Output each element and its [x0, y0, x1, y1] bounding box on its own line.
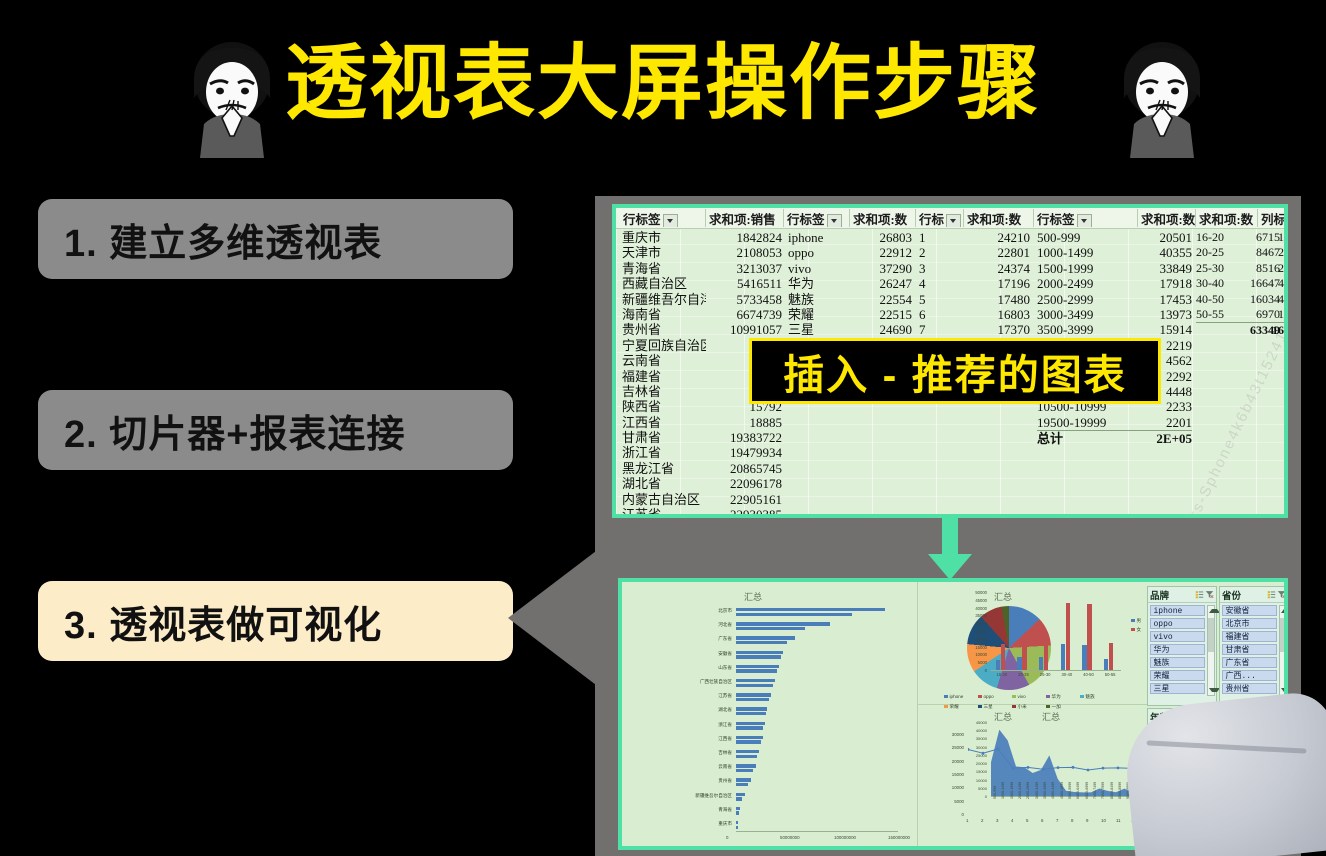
- bar-category-label: 新疆维吾尔自治区: [624, 793, 732, 798]
- pivot-cell-province-value: 5733458: [702, 292, 782, 307]
- slicer-scrollbar[interactable]: [1279, 605, 1287, 696]
- filter-dropdown-icon[interactable]: [663, 214, 678, 227]
- chart-province-bar: 汇总 北京市河北省广东省安徽省山东省广西壮族自治区江苏省湖北省浙江省江西省吉林省…: [624, 590, 916, 848]
- callout-insert-recommended-charts: 插入 - 推荐的图表: [749, 338, 1161, 404]
- slicer-body: iphoneoppovivo华为魅族荣耀三星: [1148, 603, 1216, 697]
- gender-table-row: 16-2067151639723112: [1196, 230, 1288, 245]
- step-label-3: 3. 透视表做可视化: [64, 594, 382, 649]
- pivot-cell-province-label: 湖北省: [622, 476, 706, 491]
- line-y-tick: 25000: [942, 745, 964, 750]
- pivot-cell-province-value: 6674739: [702, 307, 782, 322]
- pie-legend-item: 华为: [1046, 694, 1061, 700]
- bar-category-label: 广东省: [624, 636, 732, 641]
- pivot-cell-price-value: 2E+05: [1116, 430, 1192, 446]
- bar-category-label: 贵州省: [624, 778, 732, 783]
- slicer-item[interactable]: 魅族: [1150, 657, 1206, 669]
- bar-category-label: 云南省: [624, 764, 732, 769]
- pie-legend-item: 一加: [1046, 704, 1061, 710]
- pivot-cell-province-label: 江苏省: [622, 507, 706, 518]
- column-bar: [1104, 659, 1108, 670]
- pivot-cell-province-label: 浙江省: [622, 445, 706, 460]
- bar-x-tick: 50000000: [780, 835, 800, 840]
- area-x-tick: 3000-3499: [1035, 782, 1039, 799]
- pivot-cell-province-label: 内蒙古自治区: [622, 492, 706, 507]
- pie-legend-label: 华为: [1052, 694, 1061, 699]
- pivot-cell-index-value: 17196: [946, 276, 1030, 291]
- pivot-cell-province-value: 18885: [702, 415, 782, 430]
- pivot-cell-brand-value: 26247: [846, 276, 912, 291]
- gender-row-label: 16-20: [1196, 230, 1236, 245]
- pivot-cell-index-value: 17370: [946, 322, 1030, 337]
- scroll-thumb[interactable]: [1280, 618, 1286, 652]
- pivot-cell-province-label: 陕西省: [622, 399, 706, 414]
- dash-divider-v: [917, 582, 918, 850]
- pivot-cell-price-value: 20501: [1116, 230, 1192, 245]
- slicer-title: 省份: [1222, 588, 1266, 602]
- pivot-cell-brand-label: 魅族: [788, 292, 850, 307]
- column-legend-item: 男: [1131, 618, 1141, 624]
- bar-category-label: 江西省: [624, 736, 732, 741]
- line-y-tick: 0: [942, 812, 964, 817]
- pivot-cell-province-label: 福建省: [622, 369, 706, 384]
- sheet-header-row: 行标签 求和项:销售 行标签 求和项:数 行标 求和项:数 行标签 求和项:数 …: [616, 208, 1284, 229]
- area-y-tick: 45000: [967, 720, 987, 725]
- step-button-1[interactable]: 1. 建立多维透视表: [38, 199, 513, 279]
- pivot-cell-brand-label: 华为: [788, 276, 850, 291]
- bar-category-label: 湖北省: [624, 707, 732, 712]
- pivot-cell-index-label: 7: [919, 322, 949, 337]
- pie-legend-swatch: [1012, 705, 1016, 709]
- pivot-cell-province-label: 重庆市: [622, 230, 706, 245]
- column-x-tick: 25-30: [1034, 672, 1056, 677]
- chart-title-bar: 汇总: [744, 590, 762, 603]
- down-arrow-icon: [925, 518, 975, 580]
- step-label-1: 1. 建立多维透视表: [64, 212, 382, 267]
- slicer-item[interactable]: 广东省: [1222, 657, 1278, 669]
- area-y-tick: 30000: [967, 745, 987, 750]
- bar-category-label: 广西壮族自治区: [624, 679, 732, 684]
- area-y-tick: 35000: [967, 736, 987, 741]
- pivot-cell-province-label: 海南省: [622, 307, 706, 322]
- pivot-cell-province-value: 1842824: [702, 230, 782, 245]
- gender-female-value: 21810: [1272, 261, 1288, 276]
- area-x-tick: 1000-1499: [1001, 782, 1005, 799]
- column-bar: [1039, 657, 1043, 670]
- column-x-tick: 30-40: [1056, 672, 1078, 677]
- scroll-up-icon[interactable]: [1209, 609, 1220, 613]
- pivot-cell-index-label: 4: [919, 276, 949, 291]
- slicer-body: 安徽省北京市福建省甘肃省广东省广西...贵州省: [1220, 603, 1288, 697]
- pivot-cell-brand-label: vivo: [788, 261, 850, 276]
- col-header-sum-count-1[interactable]: 求和项:数: [850, 209, 916, 227]
- slicer-brand[interactable]: 品牌iphoneoppovivo华为魅族荣耀三星: [1147, 586, 1217, 706]
- column-legend-swatch: [1131, 619, 1135, 623]
- pie-legend-swatch: [944, 695, 948, 699]
- pivot-cell-price-value: 33849: [1116, 261, 1192, 276]
- pie-legend-item: oppo: [978, 694, 994, 699]
- pivot-cell-brand-value: 22912: [846, 245, 912, 260]
- meme-face-sticker-right: [1106, 40, 1218, 158]
- column-legend-label: 男: [1137, 618, 1142, 623]
- gender-female-value: 42486: [1272, 292, 1288, 307]
- scroll-down-icon[interactable]: [1209, 688, 1220, 692]
- col-header-row-labels-1[interactable]: 行标签: [620, 209, 706, 227]
- slicer-item[interactable]: vivo: [1150, 631, 1206, 643]
- gender-female-value: 16397: [1272, 230, 1288, 245]
- filter-dropdown-icon[interactable]: [946, 214, 961, 227]
- slicer-header: 省份: [1220, 587, 1288, 603]
- pie-legend-swatch: [944, 705, 948, 709]
- pivot-cell-brand-value: 22515: [846, 307, 912, 322]
- col-header-sum-sales[interactable]: 求和项:销售: [706, 209, 784, 227]
- column-y-tick: 30000: [967, 621, 987, 626]
- gender-table-row: 25-3085162181030326: [1196, 261, 1288, 276]
- column-bar: [1087, 604, 1091, 670]
- gender-row-label: 30-40: [1196, 276, 1236, 291]
- filter-dropdown-icon[interactable]: [827, 214, 842, 227]
- pivot-cell-province-label: 新疆维吾尔自洋: [622, 292, 706, 307]
- column-y-tick: 35000: [967, 613, 987, 618]
- pivot-cell-brand-label: 荣耀: [788, 307, 850, 322]
- column-bar: [1109, 643, 1113, 670]
- gender-row-label: 25-30: [1196, 261, 1236, 276]
- pivot-cell-province-label: 西藏自治区: [622, 276, 706, 291]
- pivot-cell-province-value: 19479934: [702, 445, 782, 460]
- area-x-tick: 4500-4999: [1060, 782, 1064, 799]
- area-x-tick: 6500-6999: [1085, 782, 1089, 799]
- pivot-cell-index-label: 2: [919, 245, 949, 260]
- col-header-row-labels-2[interactable]: 行标签: [784, 209, 850, 227]
- pivot-cell-province-label: 云南省: [622, 353, 706, 368]
- gender-female-value: 17247: [1272, 307, 1288, 322]
- area-y-tick: 10000: [967, 778, 987, 783]
- gender-table-row: 20-2584672164130108: [1196, 245, 1288, 260]
- callout-text: 插入 - 推荐的图表: [783, 341, 1126, 401]
- clear-filter-icon[interactable]: [1205, 590, 1214, 599]
- area-x-tick: 7500-7999: [1101, 782, 1105, 799]
- area-x-tick: 2000-2499: [1018, 782, 1022, 799]
- bar-category-label: 江苏省: [624, 693, 732, 698]
- pointer-arrow-to-step3: [508, 548, 600, 688]
- pivot-cell-brand-value: 22554: [846, 292, 912, 307]
- pie-legend-item: 魅族: [1080, 694, 1095, 700]
- step-button-2[interactable]: 2. 切片器+报表连接: [38, 390, 513, 470]
- pivot-cell-index-label: 3: [919, 261, 949, 276]
- pivot-cell-province-label: 青海省: [622, 261, 706, 276]
- pivot-cell-province-value: 22930385: [702, 507, 782, 518]
- slicer-item[interactable]: 华为: [1150, 644, 1206, 656]
- column-y-tick: 20000: [967, 637, 987, 642]
- pie-legend-item: 三星: [978, 704, 993, 710]
- gender-row-label: 40-50: [1196, 292, 1236, 307]
- column-bar: [1044, 636, 1048, 670]
- gender-row-label: 50-55: [1196, 307, 1236, 322]
- area-y-tick: 20000: [967, 761, 987, 766]
- column-bar: [1061, 644, 1065, 670]
- column-x-tick: 16-20: [991, 672, 1013, 677]
- column-y-tick: 50000: [967, 590, 987, 595]
- slicer-province[interactable]: 省份安徽省北京市福建省甘肃省广东省广西...贵州省: [1219, 586, 1288, 706]
- column-bar: [1082, 645, 1086, 670]
- line-y-tick: 10000: [942, 785, 964, 790]
- area-x-tick: 8000-8499: [1110, 782, 1114, 799]
- pivot-cell-index-label: 6: [919, 307, 949, 322]
- pie-legend-item: vivo: [1012, 694, 1026, 699]
- slicer-item[interactable]: 福建省: [1222, 631, 1278, 643]
- column-legend-label: 女: [1137, 627, 1142, 632]
- area-x-tick: 4000-4499: [1051, 782, 1055, 799]
- line-y-tick: 5000: [942, 799, 964, 804]
- multiselect-icon[interactable]: [1195, 590, 1204, 599]
- pivot-cell-brand-label: 三星: [788, 322, 850, 337]
- pivot-cell-price-value: 15914: [1116, 322, 1192, 337]
- pivot-cell-province-value: 3213037: [702, 261, 782, 276]
- scroll-down-icon[interactable]: [1281, 688, 1289, 692]
- col-header-sum-count-2[interactable]: 求和项:数: [964, 209, 1034, 227]
- pie-legend-label: 三星: [984, 704, 993, 709]
- column-y-tick: 5000: [967, 660, 987, 665]
- bar-x-tick: 100000000: [834, 835, 856, 840]
- scroll-thumb[interactable]: [1208, 618, 1214, 652]
- column-bar: [1017, 657, 1021, 670]
- gender-female-value: 43186: [1272, 276, 1288, 291]
- bar-category-label: 北京市: [624, 608, 732, 613]
- multiselect-icon[interactable]: [1267, 590, 1276, 599]
- slicer-scrollbar[interactable]: [1207, 605, 1215, 696]
- column-y-tick: 25000: [967, 629, 987, 634]
- column-legend-swatch: [1131, 628, 1135, 632]
- col-header-sum-count-3[interactable]: 求和项:数: [1138, 209, 1196, 227]
- bar-category-label: 山东省: [624, 665, 732, 670]
- pie-legend-label: iphone: [950, 694, 964, 699]
- pivot-cell-province-value: 2108053: [702, 245, 782, 260]
- bar-category-label: 吉林省: [624, 750, 732, 755]
- pie-legend-swatch: [978, 695, 982, 699]
- scroll-up-icon[interactable]: [1281, 609, 1289, 613]
- gender-grand-female: 162767: [1272, 323, 1288, 338]
- area-x-tick: 7000-7499: [1093, 782, 1097, 799]
- pie-legend-swatch: [1012, 695, 1016, 699]
- pivot-cell-price-value: 17453: [1116, 292, 1192, 307]
- pivot-cell-province-value: 5416511: [702, 276, 782, 291]
- column-y-tick: 40000: [967, 606, 987, 611]
- pivot-cell-brand-value: 37290: [846, 261, 912, 276]
- column-y-tick: 0: [967, 668, 987, 673]
- line-y-tick: 30000: [942, 732, 964, 737]
- gender-grand-total-row: 63349162767226116: [1196, 322, 1288, 338]
- pivot-cell-province-label: 宁夏回族自治区: [622, 338, 706, 353]
- pivot-col-brand-labels: iphoneoppovivo华为魅族荣耀三星: [788, 230, 850, 338]
- step-button-3[interactable]: 3. 透视表做可视化: [38, 581, 513, 661]
- pivot-cell-index-label: 1: [919, 230, 949, 245]
- gender-table-row: 50-5569701724724217: [1196, 307, 1288, 322]
- pivot-cell-province-label: 天津市: [622, 245, 706, 260]
- slicer-title: 品牌: [1150, 588, 1194, 602]
- col-header-column-labels[interactable]: 列标签: [1258, 209, 1288, 227]
- slicer-header: 品牌: [1148, 587, 1216, 603]
- area-y-tick: 15000: [967, 769, 987, 774]
- col-header-row-labels-4[interactable]: 行标签: [1034, 209, 1138, 227]
- pivot-cell-province-value: 20865745: [702, 461, 782, 476]
- bar-axis-line: [736, 604, 898, 832]
- col-header-sum-count-4[interactable]: 求和项:数: [1196, 209, 1258, 227]
- filter-dropdown-icon[interactable]: [1077, 214, 1092, 227]
- pivot-cell-brand-value: 24690: [846, 322, 912, 337]
- pivot-col-province-labels: 重庆市天津市青海省西藏自治区新疆维吾尔自洋海南省贵州省宁夏回族自治区云南省福建省…: [622, 230, 706, 518]
- pivot-cell-index-value: 24374: [946, 261, 1030, 276]
- pivot-cell-province-label: 江西省: [622, 415, 706, 430]
- column-y-tick: 10000: [967, 652, 987, 657]
- pie-legend-swatch: [1046, 695, 1050, 699]
- pivot-cell-price-value: 40355: [1116, 245, 1192, 260]
- pivot-cell-province-label: 贵州省: [622, 322, 706, 337]
- pivot-cell-price-value: 13973: [1116, 307, 1192, 322]
- gender-table-row: 30-40166474318659833: [1196, 276, 1288, 291]
- column-bar: [1022, 636, 1026, 670]
- pivot-cell-brand-value: 26803: [846, 230, 912, 245]
- column-plot-area: [991, 592, 1121, 671]
- pivot-cell-province-value: 19383722: [702, 430, 782, 445]
- column-bar: [996, 660, 1000, 670]
- bar-category-label: 重庆市: [624, 821, 732, 826]
- slide-canvas: 透视表大屏操作步骤 1. 建立多维透视表 2. 切片器+报表连接 3. 透视表做…: [0, 0, 1326, 856]
- clear-filter-icon[interactable]: [1277, 590, 1286, 599]
- pivot-cell-province-value: 22905161: [702, 492, 782, 507]
- pie-legend-swatch: [1080, 695, 1084, 699]
- column-y-tick: 15000: [967, 645, 987, 650]
- bar-category-label: 青海省: [624, 807, 732, 812]
- area-x-tick: 500-999: [993, 786, 997, 799]
- pie-legend-label: 一加: [1052, 704, 1061, 709]
- pivot-cell-province-label: 吉林省: [622, 384, 706, 399]
- column-bar: [1066, 603, 1070, 670]
- pie-legend-label: 小米: [1018, 704, 1027, 709]
- bar-x-tick: 0: [726, 835, 728, 840]
- gender-table-row: 40-50160344248658520: [1196, 292, 1288, 307]
- bar-category-label: 河北省: [624, 622, 732, 627]
- area-x-tick: 1500-1999: [1010, 782, 1014, 799]
- chart-gender-age-column: 5000045000400003500030000250002000015000…: [967, 588, 1167, 700]
- col-header-row-labels-3[interactable]: 行标: [916, 209, 964, 227]
- pie-legend-swatch: [1046, 705, 1050, 709]
- pivot-cell-index-label: 5: [919, 292, 949, 307]
- pie-legend-item: 荣耀: [944, 704, 959, 710]
- line-y-tick: 15000: [942, 772, 964, 777]
- area-y-tick: 40000: [967, 728, 987, 733]
- column-bar: [1001, 644, 1005, 670]
- pivot-cell-price-value: 17918: [1116, 276, 1192, 291]
- slicer-item[interactable]: 荣耀: [1150, 670, 1206, 682]
- area-y-tick: 0: [967, 794, 987, 799]
- pie-legend-label: oppo: [984, 694, 994, 699]
- pivot-cell-index-value: 17480: [946, 292, 1030, 307]
- area-y-tick: 25000: [967, 753, 987, 758]
- pivot-cell-brand-label: iphone: [788, 230, 850, 245]
- pivot-cell-province-label: 甘肃省: [622, 430, 706, 445]
- column-x-tick: 40-50: [1078, 672, 1100, 677]
- gender-row-label: 20-25: [1196, 245, 1236, 260]
- pivot-col-brand-values: 26803229123729026247225542251524690: [846, 230, 912, 338]
- area-y-tick: 5000: [967, 786, 987, 791]
- pivot-cell-index-value: 22801: [946, 245, 1030, 260]
- area-x-tick: 6000-6499: [1076, 782, 1080, 799]
- pie-legend-label: 荣耀: [950, 704, 959, 709]
- pivot-cell-price-value: 2201: [1116, 415, 1192, 430]
- slicer-item[interactable]: 安徽省: [1222, 605, 1278, 617]
- area-x-tick: 5500-5999: [1068, 782, 1072, 799]
- area-x-tick: 2500-2999: [1026, 782, 1030, 799]
- pie-legend-label: vivo: [1018, 694, 1026, 699]
- slicer-item[interactable]: 三星: [1150, 683, 1206, 695]
- column-y-tick: 45000: [967, 598, 987, 603]
- pie-legend-item: 小米: [1012, 704, 1027, 710]
- area-x-tick: 3500-3999: [1043, 782, 1047, 799]
- bar-category-label: 安徽省: [624, 651, 732, 656]
- pie-legend-swatch: [978, 705, 982, 709]
- pie-legend-item: iphone: [944, 694, 963, 699]
- pie-legend-label: 魅族: [1086, 694, 1095, 699]
- title-bar: 透视表大屏操作步骤: [0, 14, 1326, 154]
- column-legend-item: 女: [1131, 627, 1141, 633]
- column-x-tick: 20-25: [1013, 672, 1035, 677]
- slicer-item[interactable]: 广西...: [1222, 670, 1278, 682]
- slicer-item[interactable]: 甘肃省: [1222, 644, 1278, 656]
- pivot-cell-province-label: 黑龙江省: [622, 461, 706, 476]
- pivot-cell-index-value: 16803: [946, 307, 1030, 322]
- pivot-cell-index-value: 24210: [946, 230, 1030, 245]
- bar-x-tick: 150000000: [888, 835, 910, 840]
- column-x-tick: 50-55: [1099, 672, 1121, 677]
- slicer-item[interactable]: iphone: [1150, 605, 1206, 617]
- pivot-col-index-values: 24210228012437417196174801680317370: [946, 230, 1030, 338]
- slicer-item[interactable]: 贵州省: [1222, 683, 1278, 695]
- pivot-cell-brand-label: oppo: [788, 245, 850, 260]
- area-x-tick: 8500-8999: [1118, 782, 1122, 799]
- pivot-cell-province-value: 10991057: [702, 322, 782, 337]
- gender-female-value: 21641: [1272, 245, 1288, 260]
- step-label-2: 2. 切片器+报表连接: [64, 403, 405, 458]
- line-y-tick: 20000: [942, 759, 964, 764]
- bar-category-label: 浙江省: [624, 722, 732, 727]
- pivot-col-index-labels: 1234567: [919, 230, 949, 338]
- slicer-item[interactable]: oppo: [1150, 618, 1206, 630]
- pivot-cell-province-value: 22096178: [702, 476, 782, 491]
- slicer-item[interactable]: 北京市: [1222, 618, 1278, 630]
